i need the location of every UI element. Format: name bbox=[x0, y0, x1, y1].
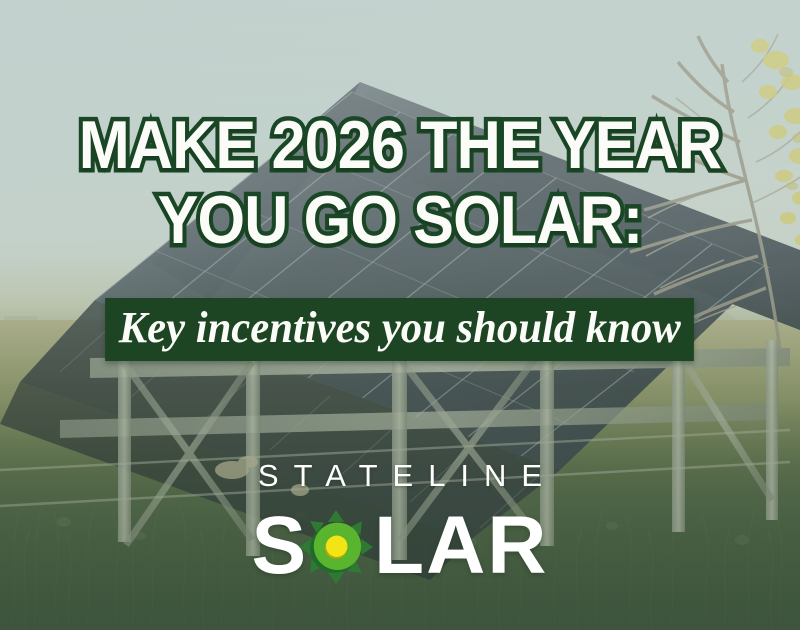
promo-graphic: MAKE 2026 THE YEAR YOU GO SOLAR: Key inc… bbox=[0, 0, 800, 630]
background-photo bbox=[0, 0, 800, 630]
tree-branches bbox=[630, 36, 780, 350]
tree-icon bbox=[600, 20, 800, 350]
autumn-leaves bbox=[751, 39, 800, 246]
